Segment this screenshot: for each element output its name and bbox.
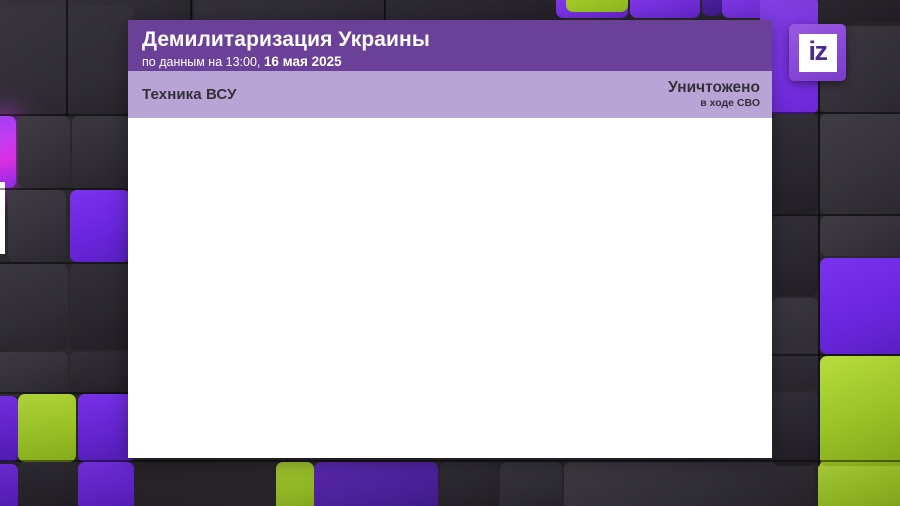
card-body [128,118,772,458]
card-header: Демилитаризация Украины по данным на 13:… [128,20,772,71]
bg-seam [66,0,68,116]
bg-block [772,216,818,296]
column-header-destroyed: Уничтожено [668,80,760,96]
bg-seam [770,214,900,216]
bg-block [564,462,814,506]
bg-block [702,0,722,16]
bg-seam [0,262,134,264]
bg-block [70,352,132,396]
bg-block [18,116,70,188]
logo-text: iz [808,38,826,65]
bg-block [18,462,76,506]
page-title: Демилитаризация Украины [142,29,772,52]
bg-block [820,216,900,256]
bg-block [820,114,900,214]
bg-block [820,258,900,354]
bg-block [72,116,130,188]
bg-block [566,0,628,12]
bg-block [8,190,66,262]
bg-block [70,190,130,262]
bg-seam [770,354,900,356]
bg-block [78,462,134,506]
bg-seam [190,0,192,22]
bg-block [772,392,818,466]
bg-block [820,0,900,22]
logo-square: iz [799,34,837,72]
subtitle-date: 16 мая 2025 [264,54,342,69]
bg-block [500,462,562,506]
bg-block [70,264,132,350]
bg-block [78,394,134,462]
bg-block [0,352,68,396]
bg-block [630,0,700,18]
bg-block [818,462,900,506]
infographic-card: Демилитаризация Украины по данным на 13:… [128,20,772,458]
bg-block [0,6,68,114]
subtitle-separator: , [257,55,260,69]
bg-block [0,464,18,506]
column-header-equipment: Техника ВСУ [142,86,237,103]
bg-block [440,462,498,506]
bg-block [772,114,818,214]
izvestia-logo[interactable]: iz [789,24,846,81]
bg-block [62,6,134,114]
bg-seam [0,188,134,190]
bg-seam [818,26,820,466]
bg-block [314,462,438,506]
subtitle-lead: по данным на 13:00 [142,55,257,69]
bg-seam [384,0,386,22]
column-header-destroyed-sublabel: в ходе СВО [668,98,760,109]
column-header-destroyed-group: Уничтожено в ходе СВО [668,80,760,109]
bg-block [0,116,16,188]
bg-block [772,298,818,390]
bg-seam [0,114,134,116]
bg-light-sliver [0,182,5,254]
card-subtitle: по данным на 13:00, 16 мая 2025 [142,55,772,70]
bg-seam [0,460,900,462]
bg-block [0,396,18,462]
bg-block [820,356,900,466]
bg-block [18,394,76,462]
bg-seam [0,392,134,394]
bg-block [276,462,314,506]
bg-seam [770,112,900,114]
bg-block [0,264,68,350]
card-column-header-band: Техника ВСУ Уничтожено в ходе СВО [128,71,772,118]
